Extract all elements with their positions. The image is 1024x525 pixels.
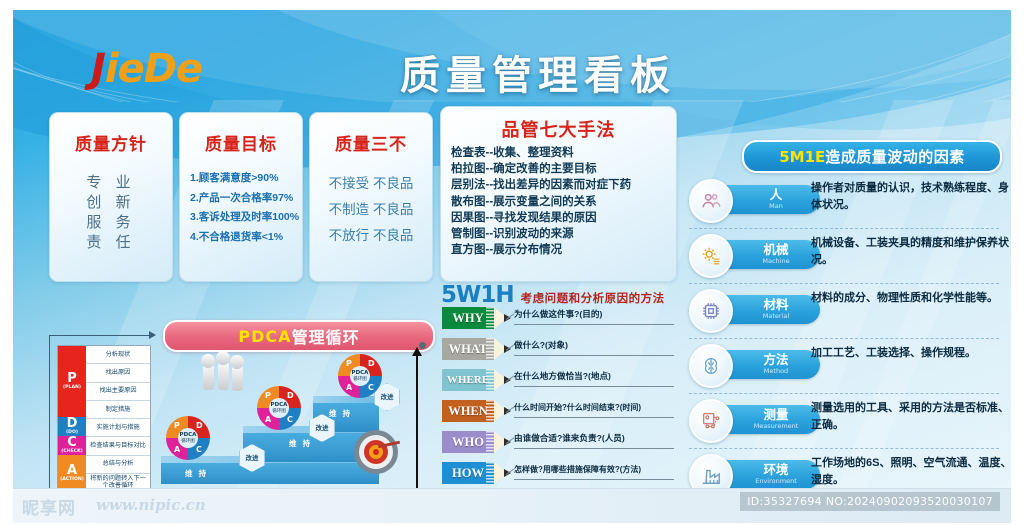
pdca-item: 检查结果与目标对比 — [86, 437, 150, 455]
pdca-stair-top-3 — [313, 396, 379, 403]
pdca-header-text: 管理循环 — [292, 324, 360, 348]
qc-tool-line: 管制图--识别波动的来源 — [451, 226, 676, 242]
w5h1-desc-what: 做什么?(对象) — [514, 340, 674, 356]
pdca-sublabel: (PLAN) — [63, 385, 81, 391]
pdca-maintain-label-3: 维 持 — [329, 408, 352, 419]
poster-canvas: JieDe 质量管理看板 质量方针 专 业 创 新 服 务 责 任 质量目标 1… — [13, 10, 1011, 490]
pdca-wheel-2: PDCA 循环图 P D C A — [257, 386, 301, 430]
pdca-sublabel: (ACTION) — [60, 477, 84, 483]
pdca-item: 实施计划与措施 — [86, 419, 150, 437]
w5h1-desc-when: 什么时间开始?什么时间结束?(时间) — [514, 402, 674, 418]
quality-policy-lines: 专 业 创 新 服 务 责 任 — [50, 173, 172, 253]
wheel-letter-p: P — [346, 359, 352, 368]
people-icon — [689, 179, 733, 223]
wheel-letter-a: A — [265, 415, 271, 424]
wheel-letter-p: P — [265, 391, 271, 400]
w5h1-row-what: WHAT 做什么?(对象) — [442, 338, 674, 363]
qc-tool-line: 因果图--寻找发现结果的原因 — [451, 210, 676, 226]
m5e1-desc-material: 材料的成分、物理性质和化学性能等。 — [811, 290, 1011, 307]
factory-icon — [689, 454, 733, 490]
w5h1-row-how: HOW 怎样做?用哪些措施保障有效?(方法) — [442, 462, 674, 487]
qc-tool-line: 检查表--收集、整理资料 — [451, 145, 676, 161]
target-center — [373, 449, 379, 455]
w5h1-desc-why: 为什么做这件事?(目的) — [514, 309, 674, 325]
qc-tool-line: 层别法--找出差异的因素而对症下药 — [451, 177, 676, 193]
chart-axis-vertical — [416, 355, 418, 490]
three-no-line: 不放行 不良品 — [310, 223, 432, 249]
pdca-maintain-label-1: 维 持 — [185, 468, 208, 479]
pdca-wheel-label-bottom: 循环图 — [181, 438, 195, 444]
m5e1-row-measurement: 测量 Measurement 测量选用的工具、采用的方法是否标准、正确。 — [689, 395, 1011, 447]
wheel-letter-d: D — [287, 391, 294, 400]
goal-line: 2.产品一次合格率97% — [190, 189, 302, 209]
page-title: 质量管理看板 — [368, 43, 708, 101]
brand-logo-j: J — [91, 46, 105, 92]
brand-logo-rest: ieDe — [105, 46, 202, 92]
team-head-3 — [230, 355, 244, 369]
m5e1-label-en: Machine — [762, 257, 789, 265]
qc-tool-line: 散布图--展示变量之间的关系 — [451, 194, 676, 210]
team-head-2 — [216, 351, 230, 365]
m5e1-label-en: Measurement — [754, 422, 799, 430]
team-head-1 — [201, 354, 215, 368]
m5e1-desc-environment: 工作场地的6S、照明、空气流通、温度、湿度。 — [811, 455, 1011, 489]
policy-line: 责 任 — [50, 233, 172, 253]
m5e1-label-cn: 测量 — [763, 409, 788, 422]
pdca-item: 分析现状 — [86, 346, 150, 364]
qc-tool-line: 直方图--展示分布情况 — [451, 242, 676, 258]
m5e1-label-en: Material — [763, 312, 789, 320]
m5e1-separator-3 — [689, 338, 999, 339]
w5h1-tag-stripes-when — [442, 400, 494, 422]
pdca-wheel-label-bottom: 循环图 — [353, 376, 367, 382]
three-no-line: 不接受 不良品 — [310, 171, 432, 197]
chart-axis-dot — [419, 342, 426, 349]
policy-line: 创 新 — [50, 193, 172, 213]
w5h1-row-who: WHO 由谁做合适?谁来负责?(人员) — [442, 431, 674, 456]
w5h1-heading-group: 5W1H考虑问题和分析原因的方法 — [441, 282, 665, 308]
pdca-wheel-label-bottom: 循环图 — [272, 408, 286, 414]
m5e1-label-cn: 方法 — [763, 354, 788, 367]
w5h1-row-when: WHEN 什么时间开始?什么时间结束?(时间) — [442, 400, 674, 425]
wheel-letter-p: P — [174, 421, 180, 430]
m5e1-desc-method: 加工工艺、工装选择、操作规程。 — [811, 345, 1011, 362]
watermark-id: ID:35327694 NO:20240902093520030107 — [740, 492, 1000, 511]
seven-qc-tools-card: 品管七大手法 检查表--收集、整理资料 柏拉图--确定改善的主要目标 层别法--… — [440, 106, 677, 282]
m5e1-separator-1 — [689, 228, 999, 229]
w5h1-tag-stripes-where — [442, 369, 494, 391]
m5e1-label-cn: 环境 — [763, 464, 788, 477]
qc-tool-line: 柏拉图--确定改善的主要目标 — [451, 161, 676, 177]
pdca-letter: D — [67, 417, 78, 430]
pdca-table-arrow-icon — [149, 331, 156, 339]
m5e1-separator-2 — [689, 283, 999, 284]
w5h1-tag-stripes-how — [442, 462, 494, 484]
m5e1-header-text: 造成质量波动的因素 — [825, 146, 965, 167]
m5e1-row-machine: 机械 Machine 机械设备、工装夹具的精度和维护保养状况。 — [689, 230, 1011, 282]
policy-line: 专 业 — [50, 173, 172, 193]
m5e1-header: 5M1E造成质量波动的因素 — [742, 140, 1002, 173]
quality-three-no-card: 质量三不 不接受 不良品 不制造 不良品 不放行 不良品 — [309, 112, 433, 282]
m5e1-desc-man: 操作者对质量的认识，技术熟练程度、身体状况。 — [811, 180, 1011, 214]
m5e1-label-en: Environment — [755, 477, 797, 485]
pdca-panel-header: PDCA管理循环 — [163, 320, 435, 352]
pdca-stage-items: 分析现状 找出原因 找出主要原因 制定措施 实施计划与措施 检查结果与目标对比 … — [86, 346, 150, 490]
m5e1-separator-4 — [689, 393, 999, 394]
pdca-maintain-label-2: 维 持 — [289, 438, 312, 449]
m5e1-row-material: 材料 Material 材料的成分、物理性质和化学性能等。 — [689, 285, 1011, 337]
m5e1-row-method: 方法 Method 加工工艺、工装选择、操作规程。 — [689, 340, 1011, 392]
m5e1-separator-5 — [689, 448, 999, 449]
watermark-logo: 昵享网 — [22, 494, 76, 519]
quality-policy-title: 质量方针 — [50, 130, 172, 155]
quality-goals-lines: 1.顾客满意度>90% 2.产品一次合格率97% 3.客诉处理及时率100% 4… — [190, 169, 302, 247]
m5e1-label-cn: 机械 — [763, 244, 788, 257]
quality-goals-title: 质量目标 — [180, 130, 302, 155]
quality-management-board-poster: JieDe 质量管理看板 质量方针 专 业 创 新 服 务 责 任 质量目标 1… — [0, 0, 1024, 525]
m5e1-row-man: 人 Man 操作者对质量的认识，技术熟练程度、身体状况。 — [689, 175, 1011, 227]
m5e1-header-key: 5M1E — [779, 148, 825, 166]
wheel-letter-d: D — [196, 421, 203, 430]
m5e1-label-en: Man — [769, 202, 783, 210]
pdca-letter: C — [67, 436, 77, 449]
pdca-item: 制定措施 — [86, 401, 150, 419]
w5h1-heading: 5W1H — [441, 282, 514, 308]
w5h1-desc-where: 在什么地方做恰当?(地点) — [514, 371, 674, 387]
wheel-letter-c: C — [287, 415, 293, 424]
w5h1-tag-stripes-who — [442, 431, 494, 453]
pdca-stage-letters: P (PLAN) D (DO) C (CHECK) A (ACTION) — [58, 346, 86, 490]
pdca-item: 找出主要原因 — [86, 383, 150, 401]
measurement-icon — [689, 399, 733, 443]
wheel-letter-d: D — [368, 359, 375, 368]
seven-qc-tools-lines: 检查表--收集、整理资料 柏拉图--确定改善的主要目标 层别法--找出差异的因素… — [451, 145, 676, 258]
goal-line: 4.不合格退货率<1% — [190, 228, 302, 248]
w5h1-row-where: WHERE 在什么地方做恰当?(地点) — [442, 369, 674, 394]
goal-line: 3.客诉处理及时率100% — [190, 208, 302, 228]
wheel-letter-c: C — [196, 445, 202, 454]
w5h1-desc-who: 由谁做合适?谁来负责?(人员) — [514, 433, 674, 449]
watermark-url: www.nipic.cn — [96, 496, 206, 514]
gear-icon — [689, 234, 733, 278]
w5h1-tag-stripes-what — [442, 338, 494, 360]
quality-three-no-lines: 不接受 不良品 不制造 不良品 不放行 不良品 — [310, 171, 432, 249]
pdca-item: 找出原因 — [86, 364, 150, 382]
seven-qc-tools-title: 品管七大手法 — [441, 116, 676, 142]
pdca-item: 总结与分析 — [86, 456, 150, 474]
m5e1-desc-machine: 机械设备、工装夹具的精度和维护保养状况。 — [811, 235, 1011, 269]
pdca-stage-table: P (PLAN) D (DO) C (CHECK) A (ACTION) 分析现… — [57, 345, 151, 490]
w5h1-desc-how: 怎样做?用哪些措施保障有效?(方法) — [514, 464, 674, 480]
pdca-wheel-1: PDCA 循环图 P D C A — [166, 416, 210, 460]
pdca-header-key: PDCA — [238, 327, 291, 346]
wheel-letter-a: A — [174, 445, 180, 454]
policy-line: 服 务 — [50, 213, 172, 233]
brand-logo: JieDe — [91, 46, 202, 92]
quality-policy-card: 质量方针 专 业 创 新 服 务 责 任 — [49, 112, 173, 282]
pdca-stage-p: P (PLAN) — [58, 346, 86, 417]
three-no-line: 不制造 不良品 — [310, 197, 432, 223]
m5e1-label-cn: 材料 — [763, 299, 788, 312]
m5e1-label-cn: 人 — [770, 189, 783, 202]
m5e1-row-environment: 环境 Environment 工作场地的6S、照明、空气流通、温度、湿度。 — [689, 450, 1011, 490]
w5h1-tag-why: WHY — [442, 307, 494, 329]
w5h1-subheading: 考虑问题和分析原因的方法 — [521, 293, 665, 305]
quality-three-no-title: 质量三不 — [310, 130, 432, 155]
wheel-letter-c: C — [368, 383, 374, 392]
pdca-letter: A — [67, 464, 77, 477]
pdca-stage-c: C (CHECK) — [58, 436, 86, 455]
pdca-stage-a: A (ACTION) — [58, 455, 86, 490]
pdca-wheel-3: PDCA 循环图 P D C A — [338, 354, 382, 398]
wheel-letter-a: A — [346, 383, 352, 392]
w5h1-row-why: WHY 为什么做这件事?(目的) — [442, 307, 674, 332]
m5e1-desc-measurement: 测量选用的工具、采用的方法是否标准、正确。 — [811, 400, 1011, 434]
goal-line: 1.顾客满意度>90% — [190, 169, 302, 189]
pdca-letter: P — [67, 372, 77, 385]
pdca-stage-d: D (DO) — [58, 417, 86, 436]
m5e1-label-en: Method — [764, 367, 788, 375]
brain-icon — [689, 344, 733, 388]
chip-icon — [689, 289, 733, 333]
quality-goals-card: 质量目标 1.顾客满意度>90% 2.产品一次合格率97% 3.客诉处理及时率1… — [179, 112, 303, 282]
